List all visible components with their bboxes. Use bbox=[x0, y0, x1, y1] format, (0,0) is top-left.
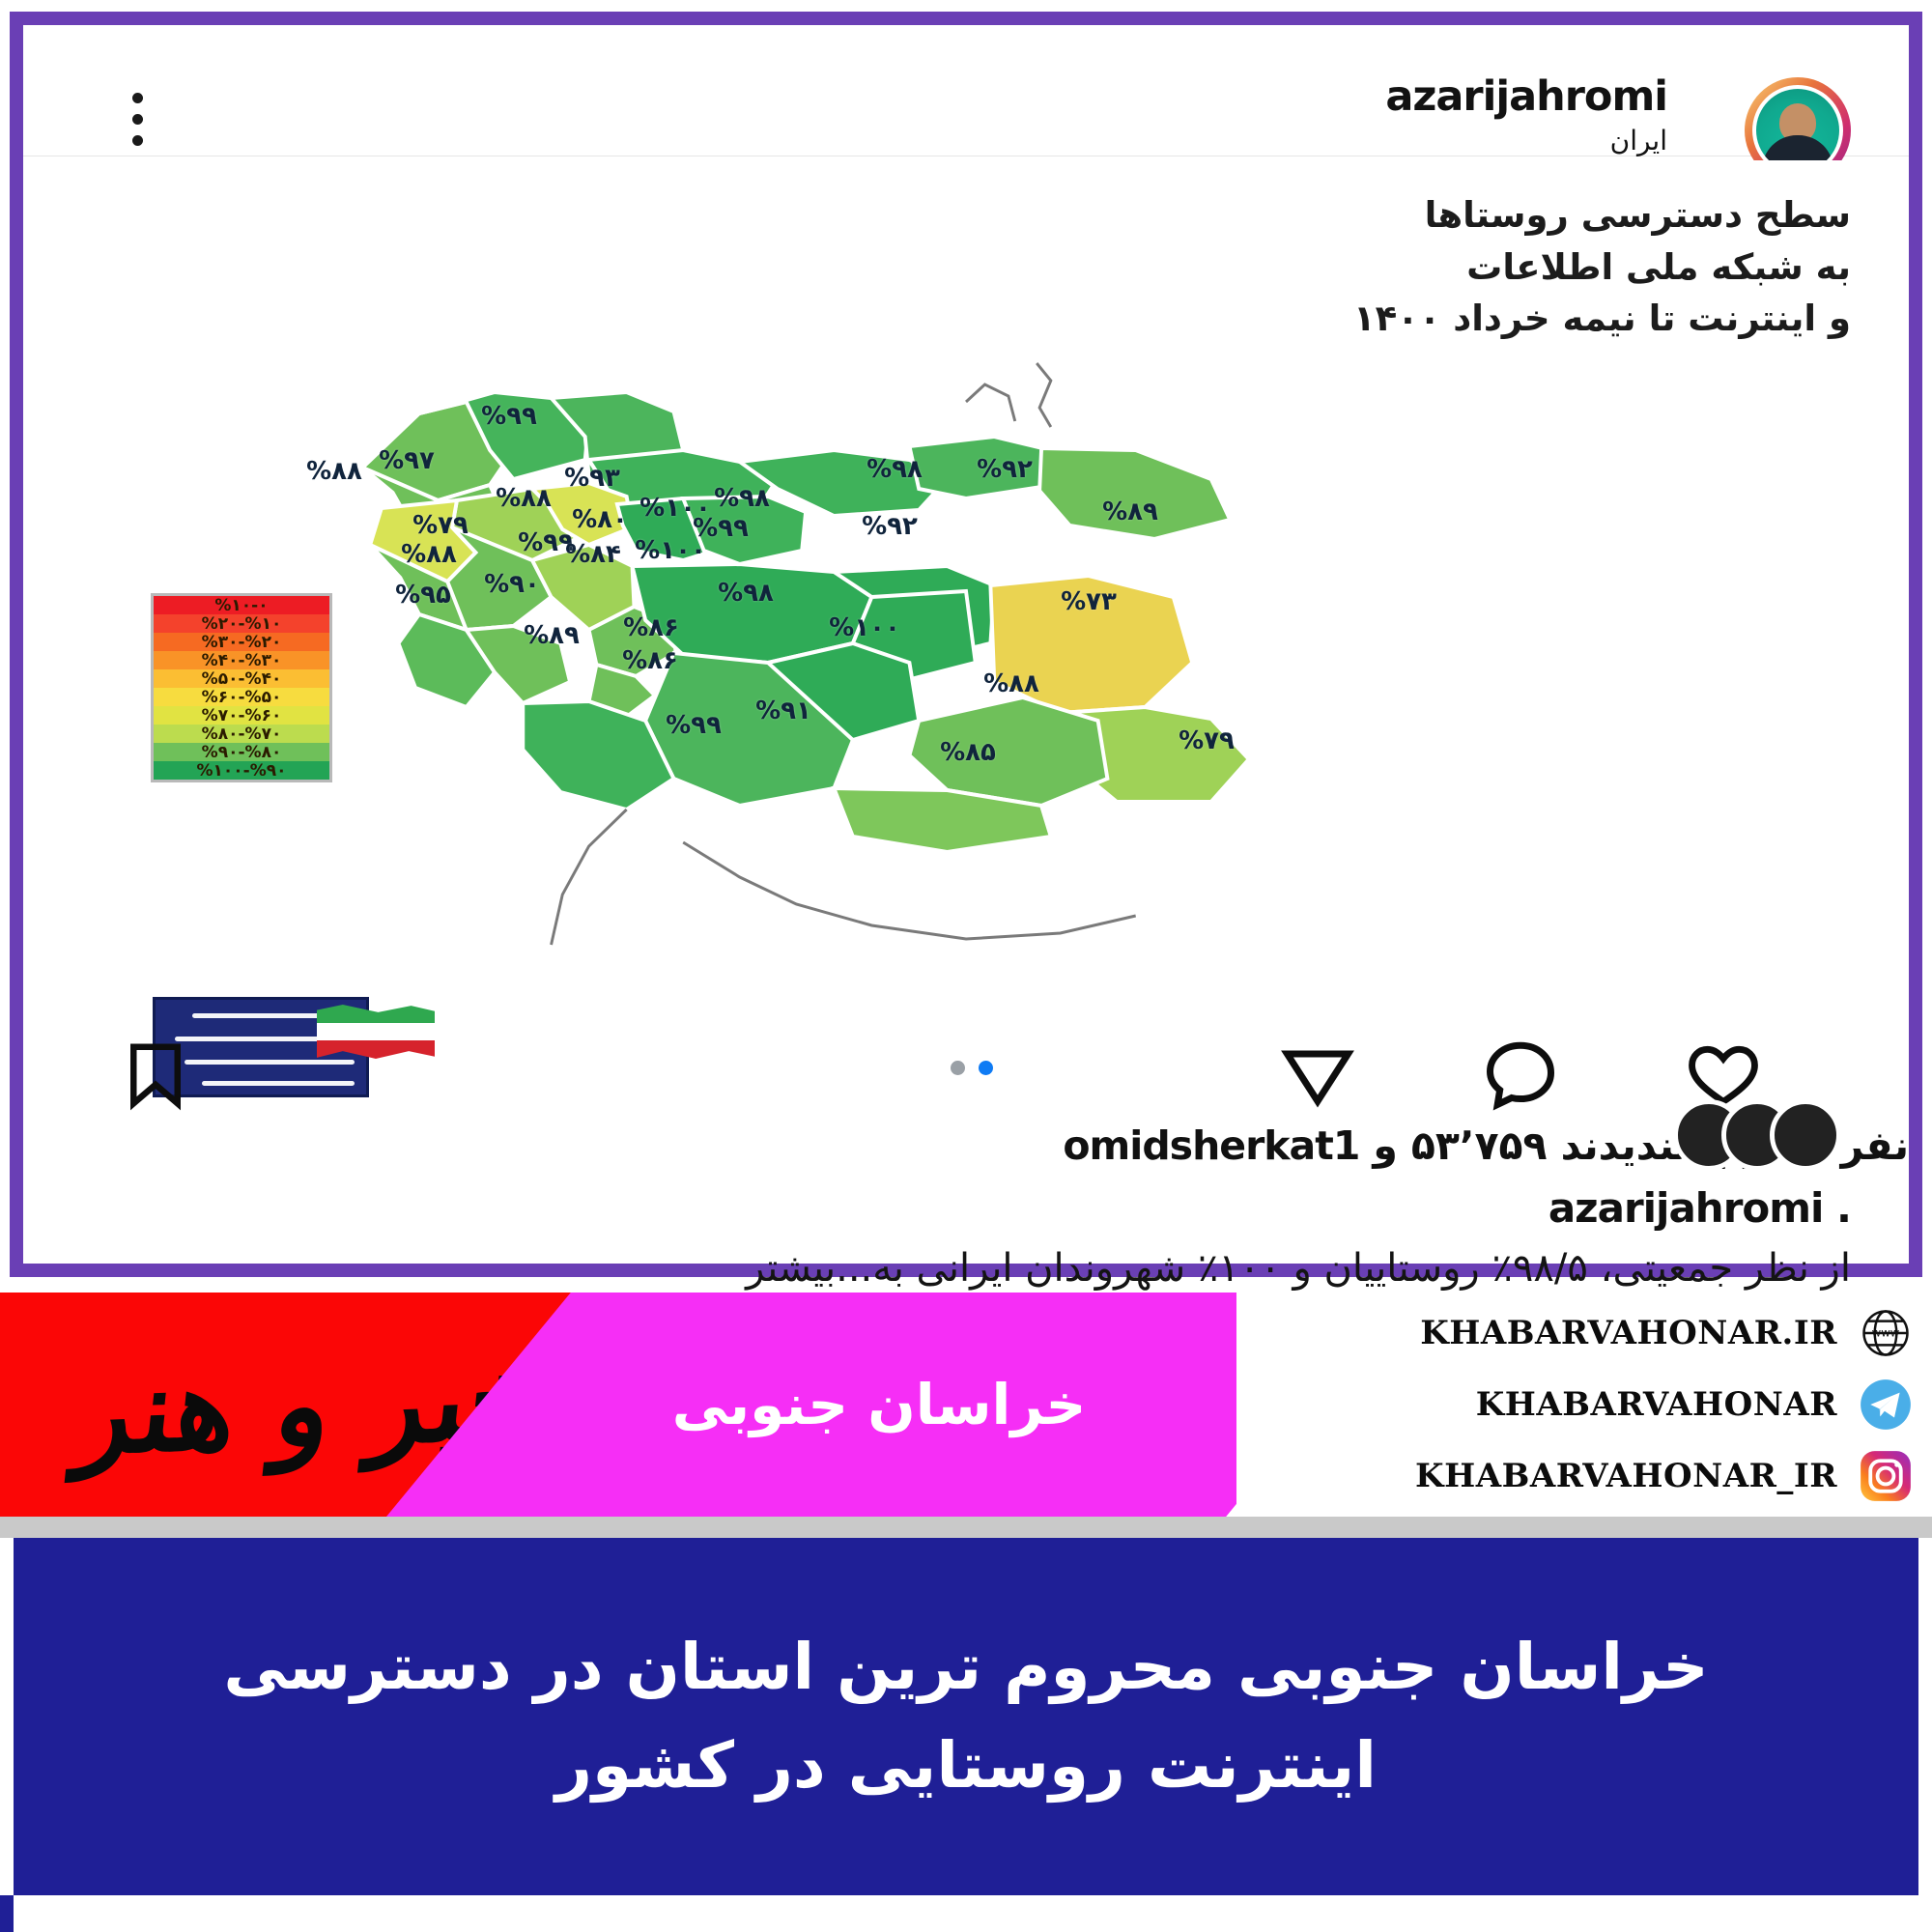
bookmark-icon[interactable] bbox=[118, 1036, 193, 1115]
province-value-1: %۹۷ bbox=[379, 446, 435, 475]
province-value-23: %۸۹ bbox=[524, 621, 580, 650]
legend-row-9: %۹۰-%۱۰۰ bbox=[154, 761, 329, 780]
headline-line-2: اینترنت روستایی در کشور bbox=[555, 1717, 1377, 1815]
legend-row-1: %۱۰-%۲۰ bbox=[154, 614, 329, 633]
news-headline-block: خراسان جنوبی محروم ترین استان در دسترسی … bbox=[14, 1538, 1918, 1895]
province-value-27: %۹۱ bbox=[755, 696, 811, 725]
province-value-17: %۸۸ bbox=[401, 540, 457, 569]
province-value-25: %۸۶ bbox=[622, 646, 678, 675]
social-row-telegram[interactable]: KHABARVAHONAR bbox=[1236, 1373, 1913, 1436]
social-row-instagram[interactable]: KHABARVAHONAR_IR bbox=[1236, 1444, 1913, 1508]
post-action-bar bbox=[23, 1010, 1909, 1122]
province-value-7: %۸۹ bbox=[1102, 497, 1158, 526]
province-value-20: %۹۸ bbox=[718, 579, 774, 608]
telegram-text: KHABARVAHONAR bbox=[1476, 1385, 1837, 1424]
speech-bubble-icon[interactable] bbox=[1480, 1034, 1561, 1115]
province-value-30: %۷۹ bbox=[1179, 726, 1235, 755]
footer-strip bbox=[0, 1895, 1932, 1932]
likes-prefix: و bbox=[1373, 1122, 1398, 1169]
instagram-icon[interactable] bbox=[1859, 1449, 1913, 1503]
post-header: azarijahromi ایران bbox=[23, 43, 1909, 156]
province-value-3: %۹۳ bbox=[564, 464, 620, 493]
first-liker-username[interactable]: omidsherkat1 bbox=[1063, 1122, 1359, 1169]
legend-row-6: %۶۰-%۷۰ bbox=[154, 706, 329, 724]
province-value-16: %۱۰۰ bbox=[635, 536, 706, 565]
legend-row-7: %۷۰-%۸۰ bbox=[154, 724, 329, 743]
province-value-22: %۱۰۰ bbox=[829, 613, 900, 642]
legend-row-2: %۲۰-%۳۰ bbox=[154, 633, 329, 651]
province-value-10: %۸۰ bbox=[572, 505, 628, 534]
carousel-dots[interactable] bbox=[951, 1061, 993, 1075]
instagram-post-card: azarijahromi ایران سطح دسترسی روستاها به… bbox=[10, 12, 1922, 1277]
post-media-map: سطح دسترسی روستاها به شبکه ملی اطلاعات و… bbox=[23, 160, 1909, 1010]
likes-row: نفر دیگر پسندیدند ۵۳٬۷۵۹ و omidsherkat1 bbox=[23, 1107, 1909, 1184]
paper-plane-icon[interactable] bbox=[1277, 1034, 1358, 1115]
globe-www-icon[interactable]: www bbox=[1859, 1306, 1913, 1360]
post-author[interactable]: azarijahromi ایران bbox=[1385, 75, 1667, 156]
legend-row-8: %۸۰-%۹۰ bbox=[154, 743, 329, 761]
province-value-28: %۹۹ bbox=[666, 711, 722, 740]
svg-text:www: www bbox=[1872, 1326, 1900, 1340]
iran-province-map bbox=[23, 160, 1909, 1010]
province-value-26: %۸۸ bbox=[983, 669, 1039, 698]
author-username[interactable]: azarijahromi bbox=[1385, 75, 1667, 119]
website-text: KHABARVAHONAR.IR bbox=[1420, 1314, 1837, 1352]
province-value-29: %۸۵ bbox=[940, 738, 996, 767]
province-value-21: %۷۳ bbox=[1061, 587, 1117, 616]
province-value-18: %۹۰ bbox=[484, 570, 540, 599]
headline-line-1: خراسان جنوبی محروم ترین استان در دسترسی bbox=[223, 1618, 1708, 1717]
province-value-0: %۹۹ bbox=[481, 402, 537, 431]
province-value-13: %۷۹ bbox=[412, 511, 469, 540]
province-value-2: %۸۸ bbox=[306, 457, 362, 486]
legend-row-0: ۰-%۱۰ bbox=[154, 596, 329, 614]
author-location[interactable]: ایران bbox=[1385, 125, 1667, 156]
legend-row-5: %۵۰-%۶۰ bbox=[154, 688, 329, 706]
brand-strip: خبر و هنر خراسان جنوبی KHABARVAHONAR.IR … bbox=[0, 1293, 1932, 1517]
legend-row-3: %۳۰-%۴۰ bbox=[154, 651, 329, 669]
caption-username[interactable]: . azarijahromi bbox=[81, 1184, 1851, 1232]
province-value-5: %۹۸ bbox=[867, 455, 923, 484]
caption-text: از نظر جمعیتی، ۹۸/۵٪ روستاییان و ۱۰۰٪ شه… bbox=[81, 1241, 1851, 1295]
telegram-icon[interactable] bbox=[1859, 1378, 1913, 1432]
social-row-website[interactable]: KHABARVAHONAR.IR www bbox=[1236, 1301, 1913, 1365]
legend-row-4: %۴۰-%۵۰ bbox=[154, 669, 329, 688]
province-value-12: %۹۲ bbox=[862, 512, 918, 541]
kebab-menu-icon[interactable] bbox=[129, 93, 145, 151]
province-label: خراسان جنوبی bbox=[672, 1372, 1087, 1437]
province-value-24: %۸۶ bbox=[623, 613, 679, 642]
province-value-8: %۸۸ bbox=[496, 484, 552, 513]
province-value-4: %۹۸ bbox=[714, 484, 770, 513]
page-root: azarijahromi ایران سطح دسترسی روستاها به… bbox=[0, 0, 1932, 1932]
divider-bar bbox=[0, 1517, 1932, 1538]
social-links: KHABARVAHONAR.IR www KHABARVAHONAR bbox=[1236, 1293, 1932, 1517]
instagram-text: KHABARVAHONAR_IR bbox=[1415, 1457, 1837, 1495]
province-value-6: %۹۲ bbox=[977, 455, 1033, 484]
province-value-19: %۹۵ bbox=[395, 581, 451, 610]
province-value-15: %۸۴ bbox=[565, 540, 621, 569]
map-legend: ۰-%۱۰%۱۰-%۲۰%۲۰-%۳۰%۳۰-%۴۰%۴۰-%۵۰%۵۰-%۶۰… bbox=[151, 593, 332, 782]
likes-count: ۵۳٬۷۵۹ bbox=[1411, 1122, 1548, 1169]
liker-avatars bbox=[1696, 1099, 1841, 1171]
